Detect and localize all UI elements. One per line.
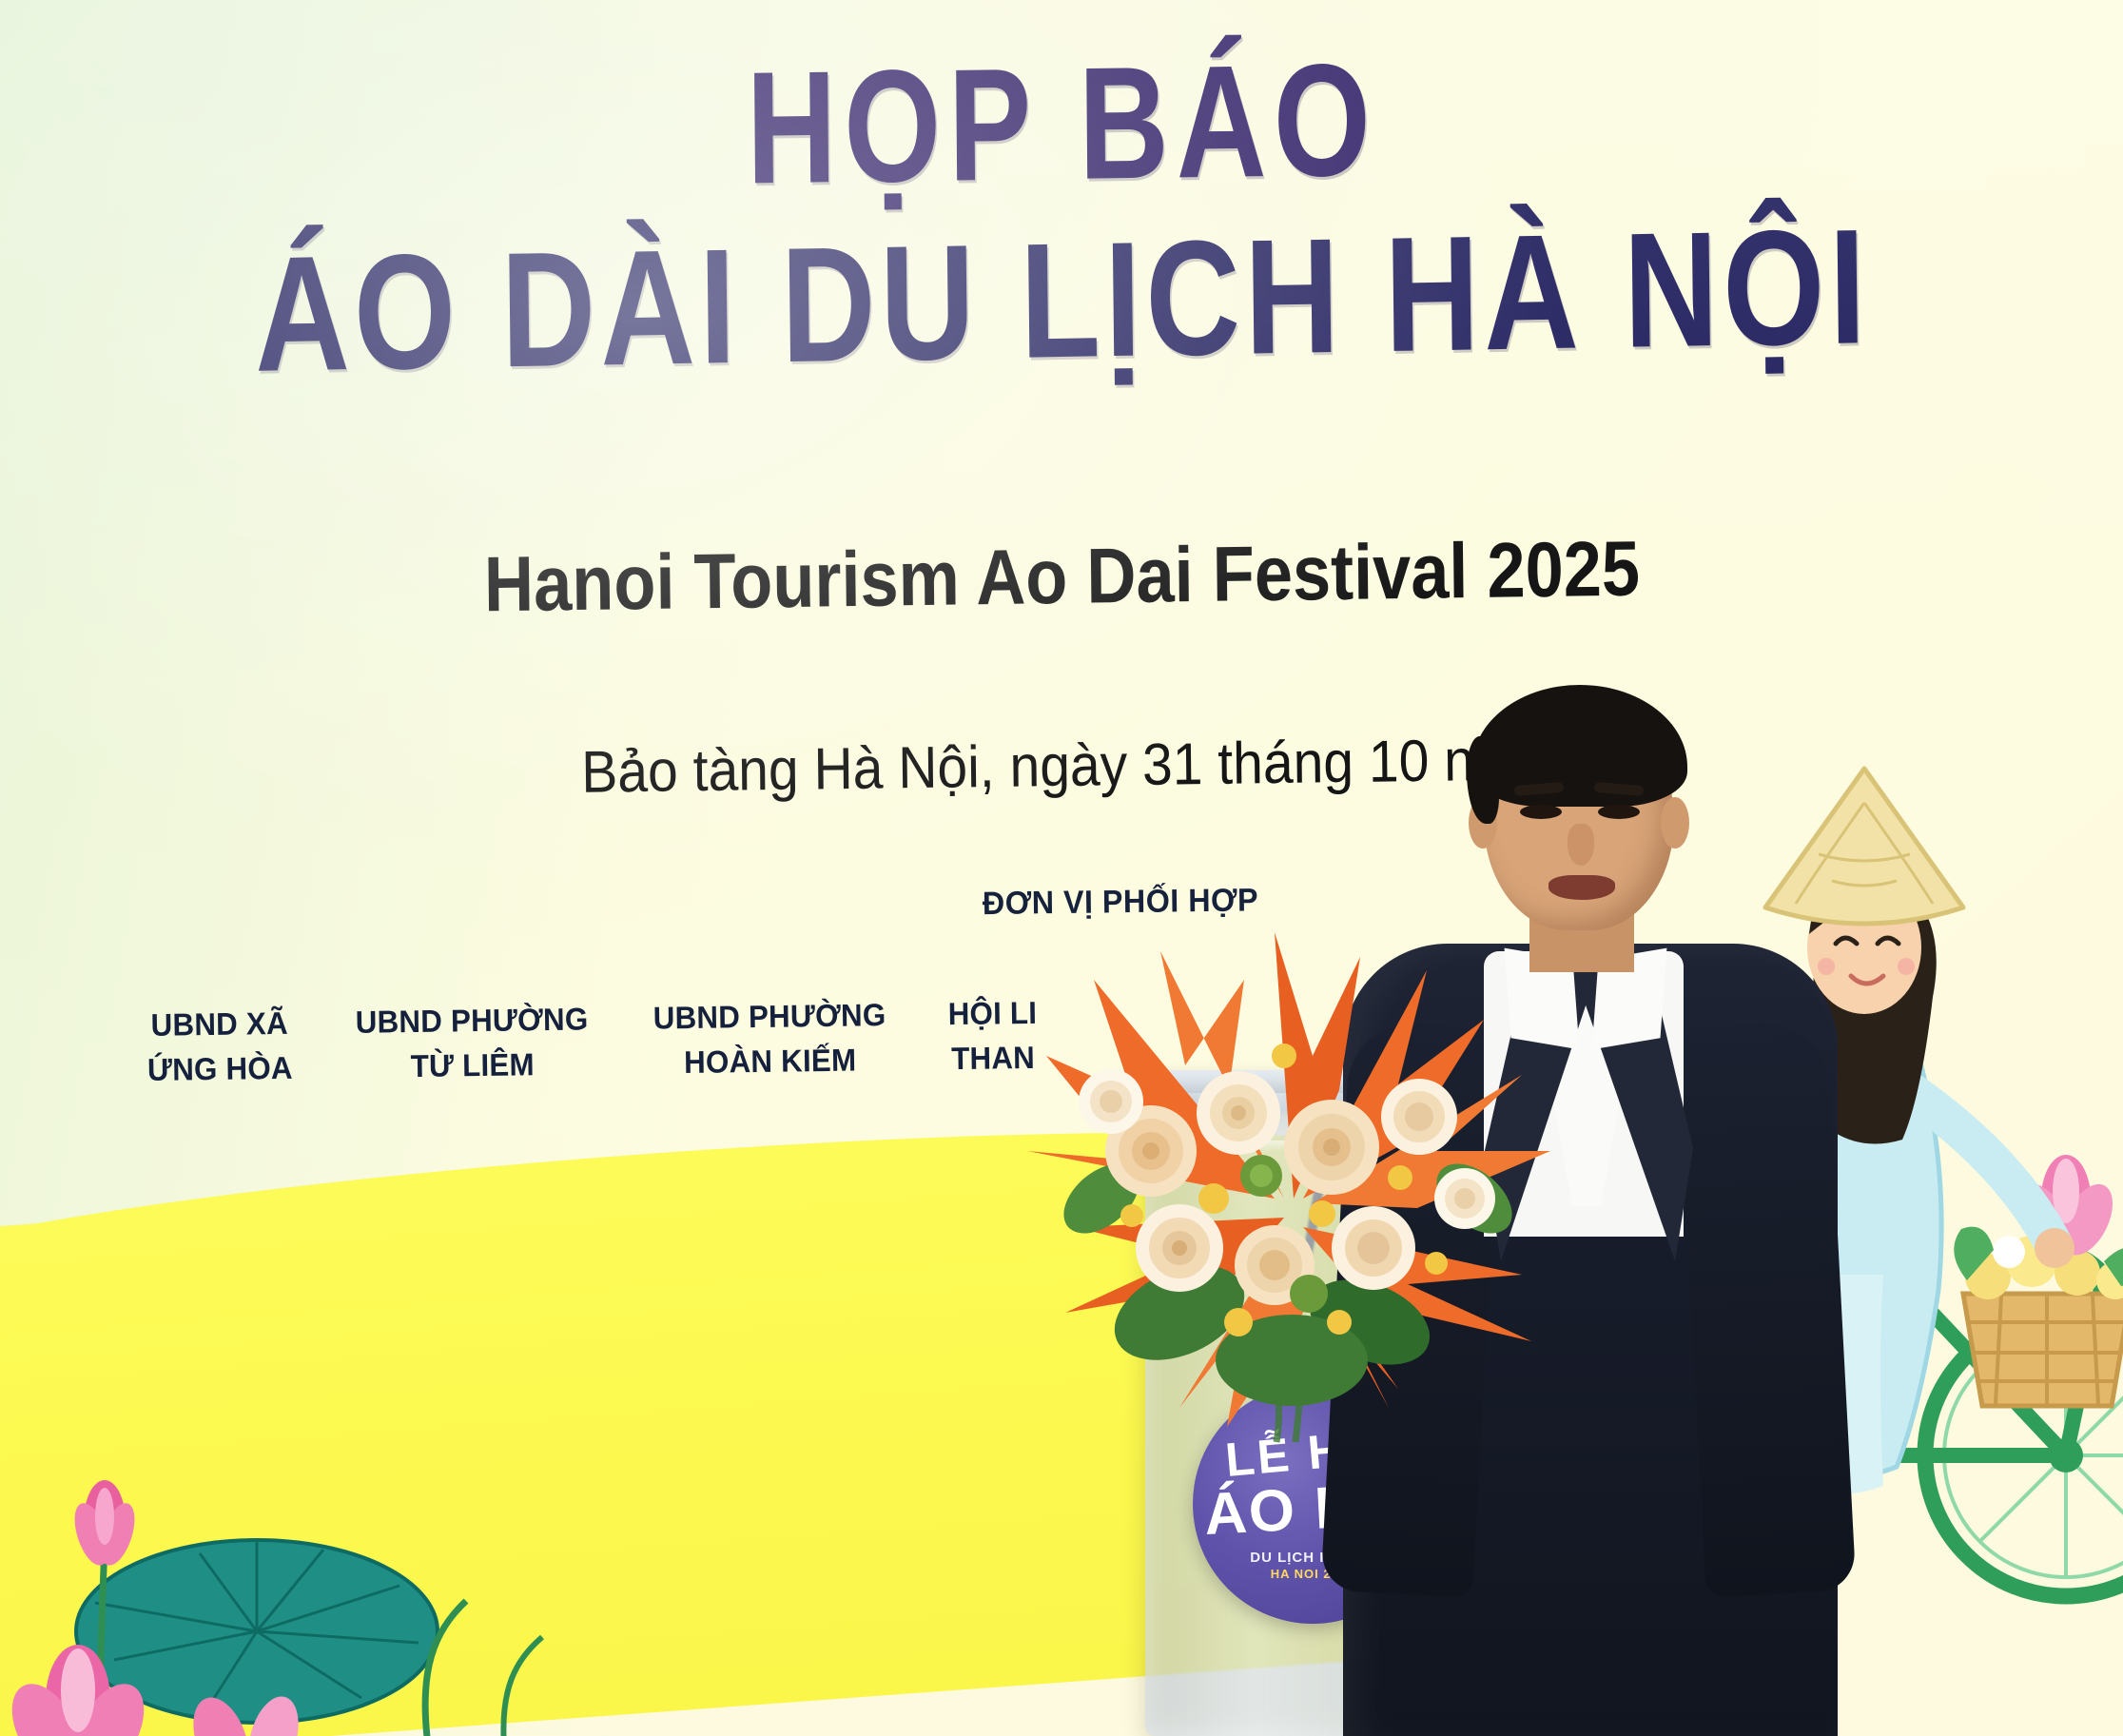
partner-line-2: HOÀN KIẾM [653, 1038, 886, 1085]
speaker-eye-left [1520, 805, 1562, 819]
flower-bouquet [989, 913, 1579, 1446]
partner-line-2: TỪ LIÊM [356, 1042, 589, 1089]
partner-logo-ung-hoa: UBND XÃ ỨNG HÒA [146, 1002, 293, 1093]
speaker-ear-right [1661, 797, 1689, 848]
partners-row: UBND XÃ ỨNG HÒA UBND PHƯỜNG TỪ LIÊM UBND… [143, 991, 1041, 1093]
partner-line-2: ỨNG HÒA [147, 1046, 293, 1093]
speaker-right-arm [1676, 1020, 1856, 1597]
partner-line-1: UBND PHƯỜNG [653, 993, 886, 1041]
backdrop-title-line-2: ÁO DÀI DU LỊCH HÀ NỘI [98, 202, 2026, 399]
screenshot-stage: HỌP BÁO ÁO DÀI DU LỊCH HÀ NỘI Hanoi Tour… [0, 0, 2123, 1736]
speaker-hair [1472, 685, 1687, 807]
speaker-eye-right [1598, 805, 1640, 819]
backdrop-title-line-1: HỌP BÁO [234, 34, 1891, 213]
speaker-mouth [1548, 875, 1615, 900]
partner-logo-hoan-kiem: UBND PHƯỜNG HOÀN KIẾM [653, 993, 887, 1085]
partner-line-1: UBND PHƯỜNG [355, 997, 588, 1044]
partner-line-1: UBND XÃ [146, 1002, 292, 1048]
speaker-nose [1568, 824, 1594, 866]
partner-logo-tu-liem: UBND PHƯỜNG TỪ LIÊM [355, 997, 589, 1089]
